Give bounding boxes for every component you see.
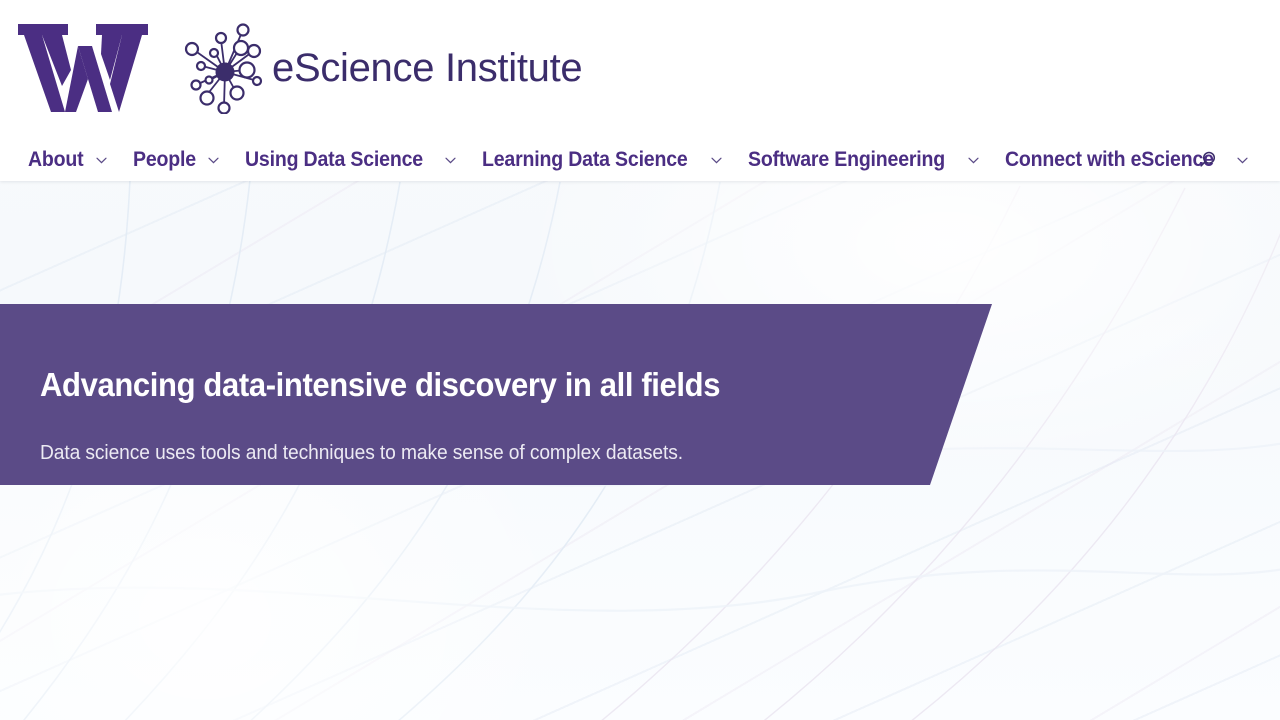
site-logo[interactable]: eScience Institute [18,18,582,118]
chevron-down-icon [968,157,979,164]
main-navigation: About People Using Data Science Learning… [0,140,1280,180]
escience-wordmark: eScience Institute [272,46,582,91]
nav-item-about[interactable]: About [28,148,107,172]
nav-item-label: Learning Data Science [482,148,688,172]
chevron-down-icon [96,157,107,164]
hero-banner: Advancing data-intensive discovery in al… [0,304,992,485]
site-header: eScience Institute About People Using Da… [0,0,1280,181]
nav-item-using-data-science[interactable]: Using Data Science [245,148,455,172]
nav-item-label: Software Engineering [748,148,945,172]
escience-network-icon [180,22,278,114]
search-icon [1198,150,1218,170]
search-button[interactable] [1194,146,1222,174]
nav-item-learning-data-science[interactable]: Learning Data Science [482,148,722,172]
escience-lockup: eScience Institute [180,22,582,114]
chevron-down-icon [1237,157,1248,164]
hero-title: Advancing data-intensive discovery in al… [40,366,720,404]
nav-item-software-engineering[interactable]: Software Engineering [748,148,979,172]
nav-item-label: People [133,148,196,172]
hero-subtitle: Data science uses tools and techniques t… [40,442,683,465]
nav-item-label: About [28,148,83,172]
page-root: eScience Institute About People Using Da… [0,0,1280,720]
nav-item-label: Using Data Science [245,148,423,172]
chevron-down-icon [208,157,219,164]
nav-item-label: Connect with eScience [1005,148,1214,172]
chevron-down-icon [445,157,456,164]
chevron-down-icon [711,157,722,164]
hero-content: Advancing data-intensive discovery in al… [40,304,900,485]
nav-item-people[interactable]: People [133,148,220,172]
uw-w-logo-icon [18,24,148,112]
